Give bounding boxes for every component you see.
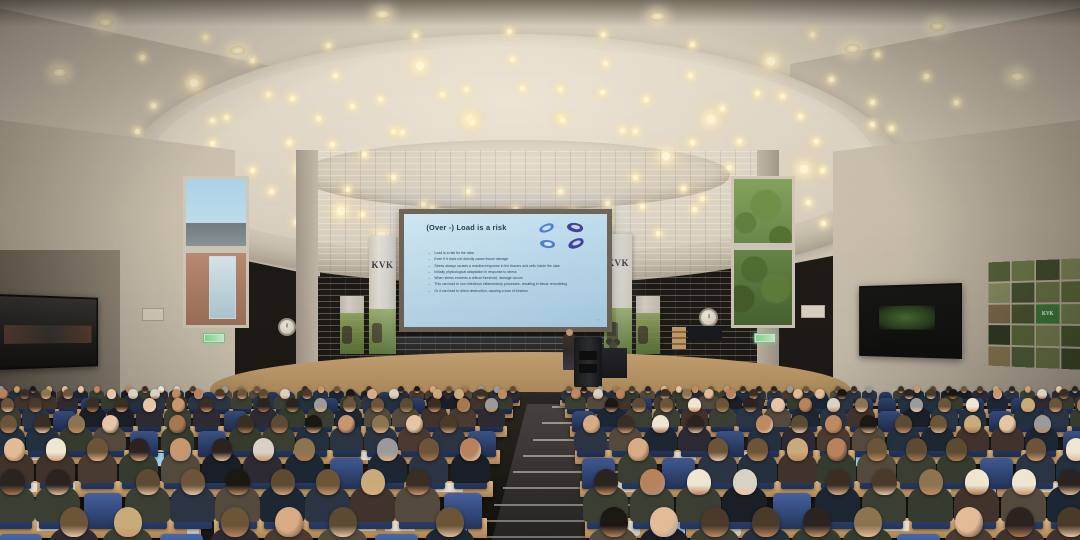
audience-member-head (221, 507, 249, 537)
audience-member-head (142, 386, 148, 392)
ceiling-star-light (603, 61, 608, 66)
audience-member-head (457, 398, 470, 412)
ceiling-star-light (203, 35, 208, 40)
audience-member-head (338, 415, 355, 433)
audience-member-head (650, 507, 678, 537)
audience-member-head (253, 438, 274, 460)
audience-member-head (172, 398, 185, 412)
audience-member-head (87, 438, 108, 460)
speaker-podium (574, 337, 602, 387)
ceiling-downlight (650, 12, 665, 21)
audience-member-head (826, 469, 850, 495)
audience-member-head (46, 438, 67, 460)
audience-member-head (708, 438, 729, 460)
banner-small-right (636, 296, 660, 354)
ceiling-star-light (620, 128, 625, 133)
exit-sign-right (754, 333, 776, 343)
audience-member-head (866, 386, 872, 392)
audience-member-head (329, 507, 357, 537)
audience-member-head (1037, 389, 1047, 399)
audience-member-head (867, 438, 888, 460)
slide-bullet: When stress exceeds a critical threshold… (428, 276, 594, 281)
audience-member-head (803, 507, 831, 537)
ceiling-downlight (230, 46, 245, 55)
ceiling-star-light (440, 92, 445, 97)
window-left (183, 176, 249, 328)
audience-member-head (107, 389, 117, 399)
audience-member-head (46, 469, 70, 495)
ceiling-star-light (326, 43, 331, 48)
ceiling-star-light (889, 126, 894, 131)
audience-member-head (964, 415, 981, 433)
wall-monitor-left (0, 294, 98, 370)
audience-member-head (993, 389, 1003, 399)
audience-member-head (733, 469, 757, 495)
audience-member-head (226, 469, 250, 495)
audience-member-head (129, 438, 150, 460)
audience-member-head (948, 389, 958, 399)
audience-member-head (740, 386, 746, 392)
audience-member-head (302, 389, 312, 399)
audience-member-head (78, 386, 84, 392)
audience-member-head (771, 386, 777, 392)
audience-member-head (215, 389, 225, 399)
audience-member-head (756, 415, 773, 433)
audience-member-head (904, 389, 914, 399)
audience-member-head (414, 386, 420, 392)
wall-clock-left (278, 318, 296, 336)
ceiling-star-light (151, 103, 156, 108)
audience-member-head (14, 386, 20, 392)
ceiling-star-light (330, 142, 335, 147)
audience-seat (375, 534, 418, 540)
window-right (731, 176, 795, 328)
audience-member-head (436, 507, 464, 537)
banner-small-left (340, 296, 364, 354)
ceiling-downlight (98, 18, 113, 27)
audience-member-head (1006, 507, 1034, 537)
audience-member-head (930, 415, 947, 433)
audience-member-head (0, 469, 24, 495)
ceiling-star-light (558, 87, 563, 92)
audience-member-head (237, 415, 254, 433)
audience-member-head (594, 469, 618, 495)
audience-member-head (275, 507, 303, 537)
ceiling-star-light (829, 77, 834, 82)
audience-member-head (476, 389, 486, 399)
slide-bullet: Initially physiological adaptation in re… (428, 270, 594, 275)
audience-member-head (4, 438, 25, 460)
audience-member-head (334, 386, 340, 392)
audience-member-head (440, 415, 457, 433)
exit-sign-left (203, 333, 225, 343)
ceiling-star-light (400, 130, 405, 135)
audience-member-head (640, 469, 664, 495)
slide-title: (Over -) Load is a risk (426, 223, 506, 232)
audience-member-head (41, 389, 51, 399)
audience-member-head (1012, 469, 1036, 495)
ceiling-star-light (820, 168, 825, 173)
audience-member-head (747, 438, 768, 460)
ceiling-star-light (767, 57, 775, 65)
stage-side-table (601, 348, 627, 378)
audience-member-head (600, 507, 628, 537)
audience-member-head (294, 438, 315, 460)
audience-member-head (115, 398, 128, 412)
audience-member-head (687, 469, 711, 495)
collage-kvk-tile: KVK (1036, 304, 1060, 324)
audience-member-head (271, 415, 288, 433)
audience-member-head (787, 438, 808, 460)
ceiling-star-light (350, 104, 355, 109)
audience-member-head (837, 389, 847, 399)
presentation-slide: (Over -) Load is a risk (404, 214, 607, 327)
audience-member-head (377, 438, 398, 460)
ceiling-downlight (52, 68, 67, 77)
audience-member-head (771, 398, 784, 412)
audience-member-head (406, 469, 430, 495)
audience-member-head (0, 415, 17, 433)
audience-member-head (181, 469, 205, 495)
audience-member-head (803, 386, 809, 392)
audience-member-head (872, 469, 896, 495)
audience-member-head (977, 386, 983, 392)
audience-member-head (169, 415, 186, 433)
ceiling-star-light (780, 94, 785, 99)
brochure-rack (672, 327, 686, 349)
audience-member-head (961, 386, 967, 392)
ceiling-shadow-band (0, 0, 1080, 26)
audience-member-head (343, 398, 356, 412)
ceiling-star-light (510, 57, 515, 62)
audience-member-head (68, 415, 85, 433)
lecture-hall-photo: KVK KVK KVK (Over -) Load is a risk (0, 0, 1080, 540)
audience-member-head (966, 398, 979, 412)
ceiling-downlight (930, 22, 945, 31)
audience-member-head (237, 389, 247, 399)
ceiling-star-light (135, 129, 140, 134)
audience-member-head (1058, 469, 1080, 495)
audience-member-head (919, 469, 943, 495)
audience-member-head (63, 389, 73, 399)
audience-member-head (581, 386, 587, 392)
ceiling-star-light (688, 73, 693, 78)
audience-member-head (682, 389, 692, 399)
ceiling-star-light (416, 62, 424, 70)
audience-member-head (1025, 386, 1031, 392)
audience-member-head (652, 415, 669, 433)
audience-member-head (955, 507, 983, 537)
audience-member-head (318, 386, 324, 392)
audience-member-head (1021, 398, 1034, 412)
ceiling-star-light (520, 86, 525, 91)
audience-member-head (212, 438, 233, 460)
ceiling-star-light (875, 52, 880, 57)
audience-member-head (716, 398, 729, 412)
ceiling-star-light (600, 90, 605, 95)
wall-speaker-right (801, 305, 825, 318)
ceiling-star-light (720, 106, 725, 111)
audience-member-head (946, 438, 967, 460)
audience-member-head (60, 507, 88, 537)
audience-member-head (136, 469, 160, 495)
audience-member-head (361, 469, 385, 495)
wall-clock-right (699, 308, 718, 327)
slide-bullet: Or it can lead to direct destruction, ca… (428, 289, 594, 294)
ceiling-star-light (333, 73, 338, 78)
ceiling-downlight (375, 10, 390, 19)
audience-member-head (316, 469, 340, 495)
ceiling-star-light (560, 118, 565, 123)
audience-member-head (855, 398, 868, 412)
audience-member-head (406, 415, 423, 433)
audience-member-head (170, 438, 191, 460)
audience-member-head (692, 386, 698, 392)
ceiling-star-light (464, 87, 469, 92)
audience-member-head (34, 415, 51, 433)
banner-left-label: KVK (369, 260, 396, 270)
audience-member-head (305, 415, 322, 433)
ceiling-star-light (644, 97, 649, 102)
audience-member-head (629, 386, 635, 392)
audience-member-head (30, 386, 36, 392)
ceiling-downlight (845, 44, 860, 53)
audience-member-head (1026, 438, 1047, 460)
ceiling-star-light (690, 140, 695, 145)
ceiling-star-light (210, 118, 215, 123)
audience-member-head (726, 389, 736, 399)
audience-member-head (271, 469, 295, 495)
audience-member-head (815, 389, 825, 399)
audience-member-head (372, 415, 389, 433)
ceiling-star-light (806, 200, 811, 205)
ceiling-star-light (755, 91, 760, 96)
projection-screen: (Over -) Load is a risk (399, 209, 612, 332)
audience-member-head (446, 386, 452, 392)
audience-member-head (645, 386, 651, 392)
audience-member-head (389, 389, 399, 399)
audience-member-head (744, 398, 757, 412)
audience-member-head (460, 438, 481, 460)
audience-member-head (1, 398, 14, 412)
ceiling-star-light (800, 165, 808, 173)
audience-member-head (752, 507, 780, 537)
audience-member-head (825, 415, 842, 433)
audience-member-head (280, 389, 290, 399)
ceiling-star-light (391, 129, 396, 134)
audience-member-head (854, 507, 882, 537)
audience-member-head (1009, 386, 1015, 392)
slide-bullet: Load is a risk for the claw (428, 251, 594, 256)
wall-photo-collage: KVK (988, 258, 1080, 370)
audience-member-head (400, 398, 413, 412)
audience-member-head (791, 415, 808, 433)
audience-seat (897, 534, 940, 540)
wall-speaker-left (142, 308, 164, 321)
audience-member-head (926, 389, 936, 399)
audience-member-head (687, 415, 704, 433)
audience-member-head (701, 507, 729, 537)
ceiling-downlight (1010, 72, 1025, 81)
audience-member-head (827, 438, 848, 460)
audience-member-head (616, 389, 626, 399)
audience-member-head (632, 398, 645, 412)
slide-page-number: 7 (597, 318, 599, 322)
audience-member-head (851, 386, 857, 392)
slide-bullet: Stress always causes a reaction/response… (428, 264, 594, 269)
slide-bullet-list: Load is a risk for the clawEven if it do… (428, 251, 594, 294)
audience-member-head (194, 389, 204, 399)
audience-member-head (419, 438, 440, 460)
audience-member-head (114, 507, 142, 537)
banner-left-kvk: KVK (369, 236, 396, 354)
audience-member-head (898, 386, 904, 392)
ceiling-star-light (210, 141, 215, 146)
wall-sign-right (688, 326, 722, 341)
audience-member-head (914, 386, 920, 392)
audience-member-head (617, 415, 634, 433)
audience-member-head (895, 415, 912, 433)
audience-member-head (906, 438, 927, 460)
ceiling-star-light (954, 100, 959, 105)
audience-member-head (628, 438, 649, 460)
audience-seat (160, 534, 203, 540)
audience-member-head (94, 386, 100, 392)
audience-member-head (704, 389, 714, 399)
audience-member-head (1034, 415, 1051, 433)
audience-member-head (999, 415, 1016, 433)
ceiling-star-light (287, 140, 292, 145)
audience-member-head (128, 389, 138, 399)
ceiling-star-light (316, 116, 321, 121)
audience-member-head (1057, 507, 1080, 537)
audience-member-head (593, 389, 603, 399)
audience-member-head (286, 398, 299, 412)
ceiling-star-light (870, 122, 875, 127)
audience-member-head (583, 415, 600, 433)
audience-member-head (20, 389, 30, 399)
audience-seat (0, 534, 42, 540)
slide-bullet: This can lead to non-infectious inflamma… (428, 282, 594, 287)
audience-member-head (1059, 389, 1069, 399)
audience-member-head (498, 389, 508, 399)
ceiling-star-light (290, 96, 295, 101)
audience-member-head (102, 415, 119, 433)
audience-member-head (1072, 386, 1078, 392)
presenter-head (566, 329, 573, 336)
audience-member-head (605, 398, 618, 412)
audience-member-head (965, 469, 989, 495)
wall-monitor-right (859, 283, 962, 359)
audience-member-head (510, 386, 516, 392)
ceiling-star-light (690, 42, 695, 47)
audience-member-head (793, 389, 803, 399)
ceiling-star-light (250, 168, 255, 173)
audience-member-head (571, 389, 581, 399)
ceiling-star-light (470, 120, 475, 125)
slide-bullet: Even if it does not directly cause tissu… (428, 257, 594, 262)
audience-member-head (1066, 438, 1080, 460)
audience-member-head (860, 415, 877, 433)
